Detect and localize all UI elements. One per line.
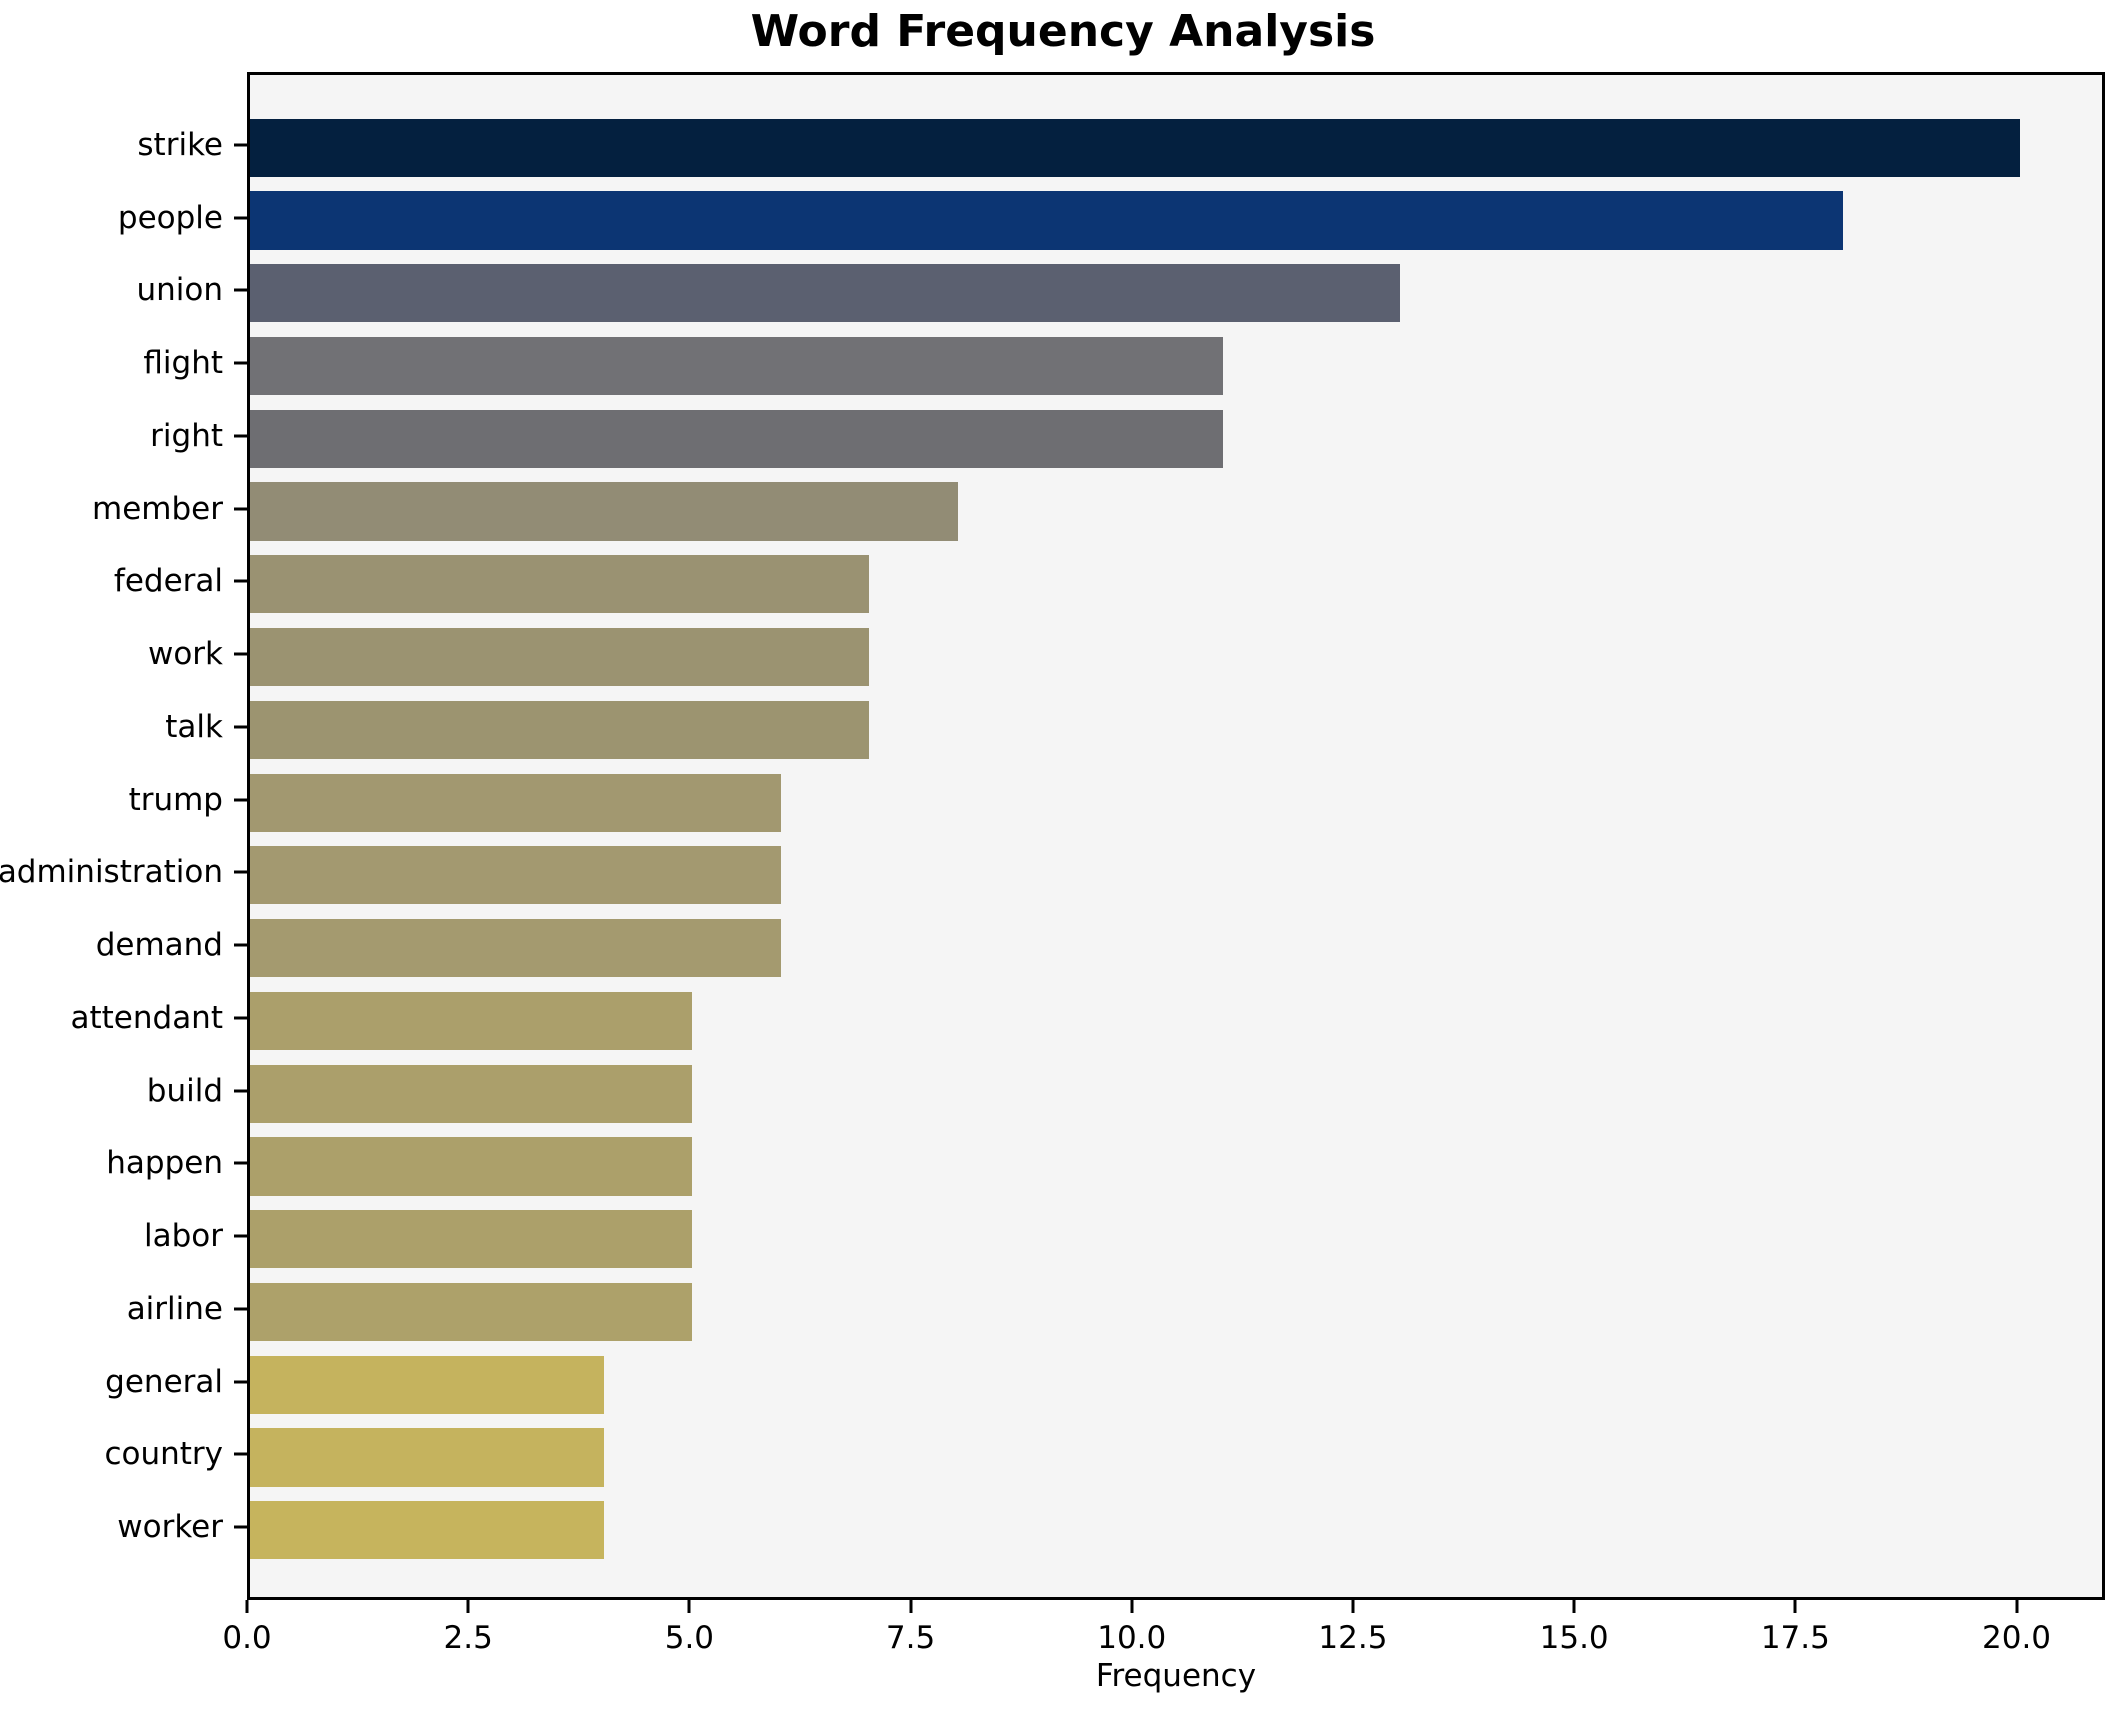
bar-build (250, 1065, 692, 1123)
bar-attendant (250, 992, 692, 1050)
x-tick-label-2.5: 2.5 (444, 1620, 493, 1656)
y-tick-label-right: right (150, 418, 223, 454)
bar-talk (250, 701, 869, 759)
y-tick-label-work: work (148, 636, 223, 672)
y-tick-mark-strike (234, 143, 247, 146)
y-tick-label-labor: labor (144, 1218, 223, 1254)
x-tick-mark-12.5 (1351, 1600, 1354, 1613)
x-tick-mark-20.0 (2015, 1600, 2018, 1613)
y-tick-mark-member (234, 507, 247, 510)
y-tick-mark-labor (234, 1235, 247, 1238)
y-tick-label-administration: administration (0, 854, 223, 890)
bar-airline (250, 1283, 692, 1341)
x-tick-mark-10.0 (1130, 1600, 1133, 1613)
y-tick-mark-work (234, 653, 247, 656)
y-tick-mark-build (234, 1089, 247, 1092)
y-tick-mark-worker (234, 1526, 247, 1529)
y-tick-label-attendant: attendant (70, 1000, 223, 1036)
y-tick-label-airline: airline (127, 1291, 223, 1327)
y-tick-mark-happen (234, 1162, 247, 1165)
x-tick-mark-2.5 (467, 1600, 470, 1613)
x-tick-label-7.5: 7.5 (886, 1620, 935, 1656)
y-tick-mark-union (234, 289, 247, 292)
y-tick-mark-demand (234, 944, 247, 947)
y-tick-label-demand: demand (96, 927, 223, 963)
chart-figure: Word Frequency Analysis strikepeopleunio… (0, 0, 2126, 1722)
x-tick-mark-17.5 (1794, 1600, 1797, 1613)
bar-trump (250, 774, 781, 832)
bar-happen (250, 1137, 692, 1195)
y-tick-label-worker: worker (117, 1509, 223, 1545)
y-tick-label-happen: happen (106, 1145, 223, 1181)
x-axis-label: Frequency (247, 1658, 2105, 1694)
x-tick-label-17.5: 17.5 (1761, 1620, 1830, 1656)
y-tick-label-build: build (147, 1073, 223, 1109)
bar-people (250, 191, 1843, 249)
y-tick-label-strike: strike (137, 127, 223, 163)
bar-general (250, 1356, 604, 1414)
x-tick-label-20.0: 20.0 (1982, 1620, 2051, 1656)
x-tick-mark-0.0 (246, 1600, 249, 1613)
y-tick-label-talk: talk (165, 709, 223, 745)
y-tick-mark-general (234, 1380, 247, 1383)
bar-demand (250, 919, 781, 977)
bar-administration (250, 846, 781, 904)
y-tick-label-federal: federal (114, 563, 223, 599)
bar-federal (250, 555, 869, 613)
chart-title: Word Frequency Analysis (0, 6, 2126, 57)
x-tick-label-10.0: 10.0 (1097, 1620, 1166, 1656)
x-tick-mark-5.0 (688, 1600, 691, 1613)
bars-layer (250, 75, 2102, 1597)
x-tick-label-0.0: 0.0 (222, 1620, 271, 1656)
y-tick-mark-flight (234, 362, 247, 365)
bar-member (250, 482, 958, 540)
plot-area (247, 72, 2105, 1600)
y-tick-mark-right (234, 434, 247, 437)
y-tick-mark-trump (234, 798, 247, 801)
x-tick-label-12.5: 12.5 (1318, 1620, 1387, 1656)
bar-strike (250, 119, 2020, 177)
y-tick-mark-attendant (234, 1016, 247, 1019)
y-tick-label-flight: flight (143, 345, 223, 381)
y-tick-mark-country (234, 1453, 247, 1456)
y-tick-mark-airline (234, 1307, 247, 1310)
x-tick-label-5.0: 5.0 (665, 1620, 714, 1656)
bar-right (250, 410, 1223, 468)
y-tick-label-general: general (105, 1364, 223, 1400)
y-tick-label-member: member (92, 491, 223, 527)
bar-work (250, 628, 869, 686)
bar-worker (250, 1501, 604, 1559)
x-tick-mark-7.5 (909, 1600, 912, 1613)
y-tick-label-country: country (104, 1436, 223, 1472)
x-tick-mark-15.0 (1573, 1600, 1576, 1613)
y-tick-mark-talk (234, 725, 247, 728)
y-tick-mark-federal (234, 580, 247, 583)
y-tick-label-trump: trump (129, 782, 223, 818)
x-tick-label-15.0: 15.0 (1540, 1620, 1609, 1656)
bar-labor (250, 1210, 692, 1268)
y-tick-mark-people (234, 216, 247, 219)
bar-country (250, 1428, 604, 1486)
bar-flight (250, 337, 1223, 395)
y-axis: strikepeopleunionflightrightmemberfedera… (0, 72, 247, 1600)
y-tick-label-union: union (136, 272, 223, 308)
y-tick-mark-administration (234, 871, 247, 874)
y-tick-label-people: people (118, 200, 223, 236)
bar-union (250, 264, 1400, 322)
